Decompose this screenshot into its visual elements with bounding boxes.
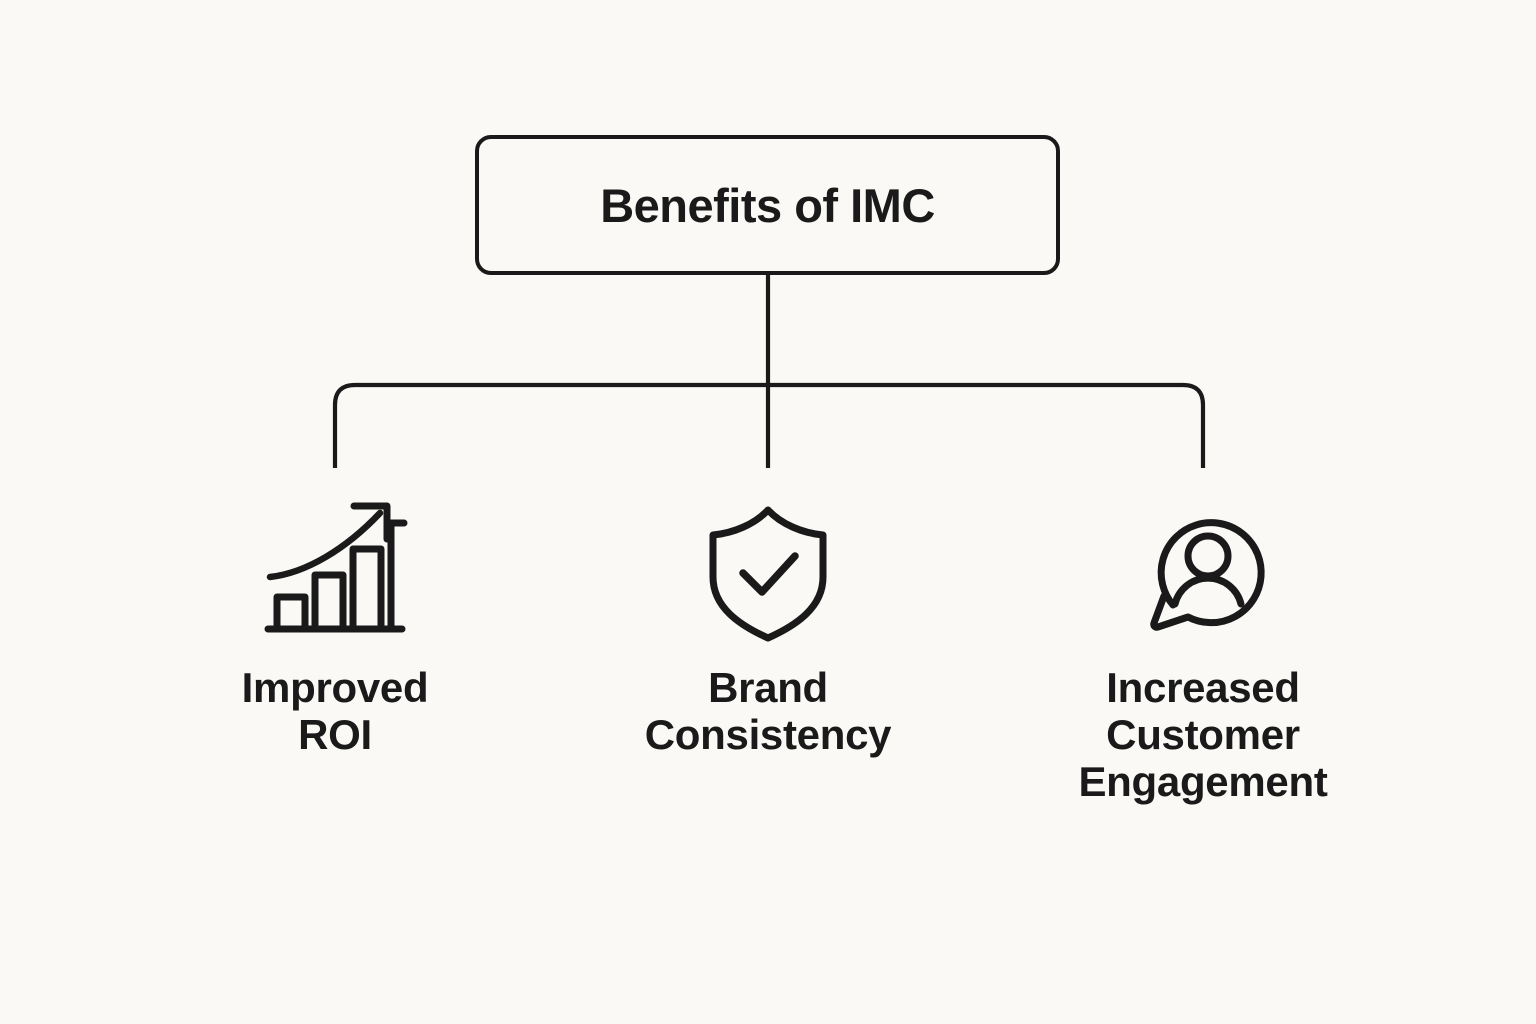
diagram-canvas: Benefits of IMC Improved ROI <box>0 0 1536 1024</box>
branch-label: Brand Consistency <box>645 664 891 758</box>
branch-label: Increased Customer Engagement <box>1078 664 1327 805</box>
branch-improved-roi[interactable]: Improved ROI <box>125 488 545 758</box>
branch-increased-customer-engagement[interactable]: Increased Customer Engagement <box>993 488 1413 805</box>
person-speech-bubble-icon <box>1128 488 1278 648</box>
branch-rail-line <box>335 385 1203 468</box>
branch-label: Improved ROI <box>242 664 429 758</box>
growth-bar-chart-arrow-icon <box>260 488 410 648</box>
branch-brand-consistency[interactable]: Brand Consistency <box>558 488 978 758</box>
root-node-box[interactable]: Benefits of IMC <box>475 135 1060 275</box>
shield-check-icon <box>693 488 843 648</box>
page-title: Benefits of IMC <box>600 182 935 229</box>
